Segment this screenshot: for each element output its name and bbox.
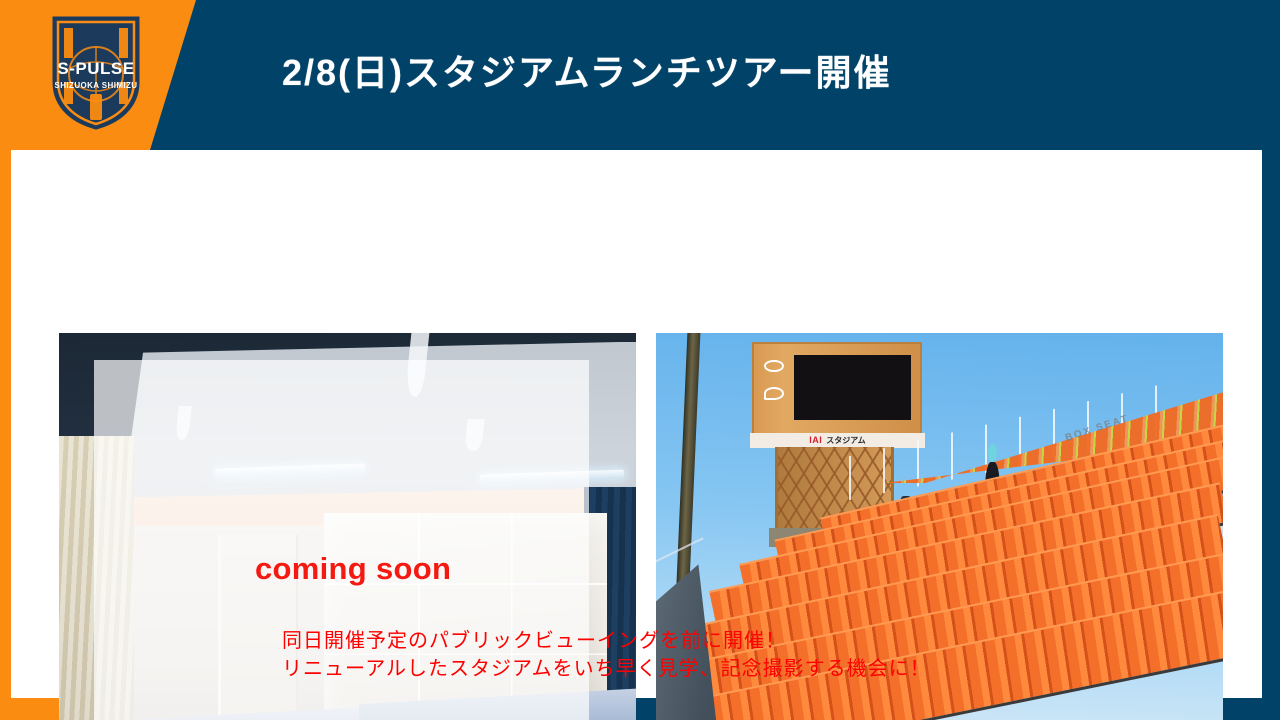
- coming-soon-label: coming soon: [255, 551, 451, 587]
- right-navy-stripe: [1262, 148, 1280, 720]
- page-title: 2/8(日)スタジアムランチツアー開催: [282, 44, 892, 96]
- scoreboard-brand-text: IAI: [809, 435, 822, 445]
- caption-line-1: 同日開催予定のパブリックビューイングを前に開催！: [282, 627, 931, 655]
- scoreboard: [752, 342, 922, 436]
- emblem-main-text: S-PULSE: [57, 59, 134, 78]
- scoreboard-screen: [794, 355, 910, 420]
- slide-root: S-PULSE SHIZUOKA SHIMIZU 2/8(日)スタジアムランチツ…: [0, 0, 1280, 720]
- clock-icon: [764, 387, 784, 400]
- orange-diagonal-flag: [0, 0, 310, 150]
- caption-block: 同日開催予定のパブリックビューイングを前に開催！ リニューアルしたスタジアムをい…: [282, 627, 931, 683]
- left-orange-stripe: [0, 148, 11, 720]
- content-card: coming soon IAI スタジアム: [11, 150, 1262, 698]
- sun-icon: [764, 360, 784, 373]
- emblem-sub-text: SHIZUOKA SHIMIZU: [55, 81, 138, 90]
- s-pulse-emblem: S-PULSE SHIZUOKA SHIMIZU: [48, 12, 144, 130]
- scoreboard-jp-text: スタジアム: [826, 435, 865, 446]
- caption-line-2: リニューアルしたスタジアムをいち早く見学、記念撮影する機会に！: [282, 655, 931, 683]
